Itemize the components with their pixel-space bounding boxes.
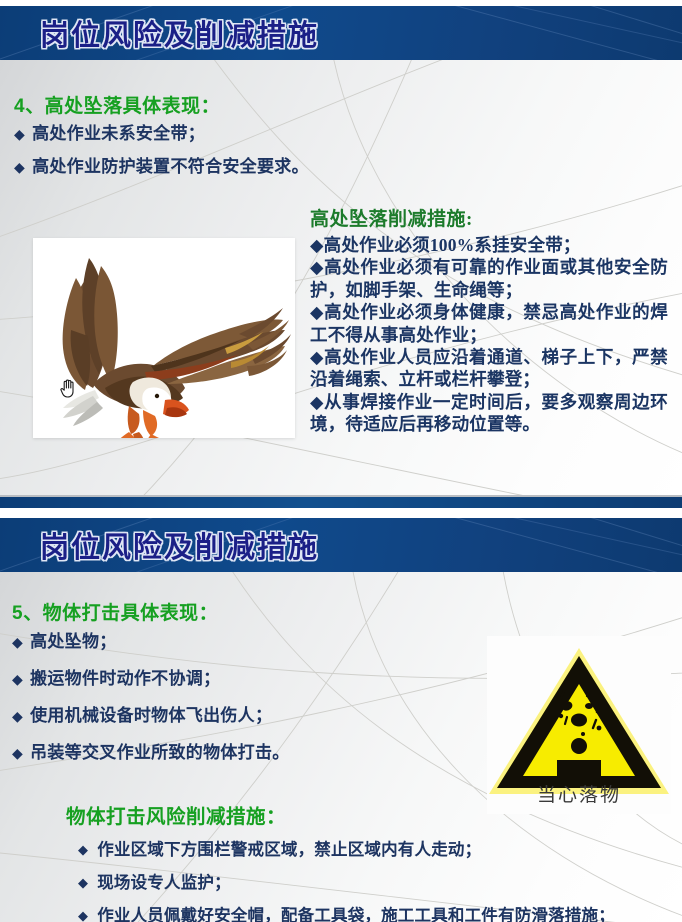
list-item: ◆ 高处坠物；	[12, 627, 290, 652]
slide-1[interactable]: 岗位风险及削减措施 4、高处坠落具体表现： ◆ 高处作业未系安全带；	[0, 6, 682, 508]
slide-2-title: 岗位风险及削减措施	[40, 524, 319, 566]
diamond-bullet-icon: ◆	[78, 906, 88, 922]
list-item-label: 使用机械设备时物体飞出伤人；	[30, 701, 272, 726]
slide-1-footer-bar	[0, 495, 682, 508]
diamond-bullet-icon: ◆	[78, 840, 88, 860]
slide-2-section-heading: 5、物体打击具体表现：	[12, 598, 218, 625]
list-item-label: 吊装等交叉作业所致的物体打击。	[30, 738, 290, 763]
diamond-bullet-icon: ◆	[12, 709, 23, 723]
presentation-page: 岗位风险及削减措施 4、高处坠落具体表现： ◆ 高处作业未系安全带；	[0, 0, 682, 922]
measures-item: ◆高处作业必须身体健康，禁忌高处作业的焊工不得从事高处作业；	[310, 301, 668, 346]
list-item-label: 高处作业未系安全带；	[32, 119, 205, 144]
slide-1-body: 4、高处坠落具体表现： ◆ 高处作业未系安全带； ◆ 高处作业防护装置不符合安全…	[0, 60, 682, 508]
slide-1-banner: 岗位风险及削减措施	[0, 6, 682, 60]
list-item-label: 作业区域下方围栏警戒区域，禁止区域内有人走动；	[97, 840, 680, 862]
list-item: ◆ 搬运物件时动作不协调；	[12, 664, 290, 689]
list-item: ◆ 作业区域下方围栏警戒区域，禁止区域内有人走动；	[66, 840, 680, 862]
slide-2-bullet-list: ◆ 高处坠物； ◆ 搬运物件时动作不协调； ◆ 使用机械设备时物体飞出伤人； ◆…	[12, 627, 290, 763]
list-item-label: 作业人员佩戴好安全帽，配备工具袋，施工工具和工件有防滑落措施；	[97, 906, 680, 922]
measures-item: ◆高处作业人员应沿着通道、梯子上下，严禁沿着绳索、立杆或栏杆攀登；	[310, 346, 668, 391]
measures-item: ◆高处作业必须有可靠的作业面或其他安全防护，如脚手架、生命绳等；	[310, 256, 668, 301]
eagle-illustration	[33, 238, 295, 438]
diamond-bullet-icon: ◆	[12, 672, 23, 686]
list-item: ◆ 作业人员佩戴好安全帽，配备工具袋，施工工具和工件有防滑落措施；	[66, 906, 680, 922]
measures-heading: 物体打击风险削减措施：	[66, 800, 680, 829]
diamond-bullet-icon: ◆	[14, 160, 25, 174]
list-item: ◆ 吊装等交叉作业所致的物体打击。	[12, 738, 290, 763]
diamond-bullet-icon: ◆	[12, 635, 23, 649]
list-item-label: 现场设专人监护；	[97, 873, 680, 895]
list-item-label: 搬运物件时动作不协调；	[30, 664, 220, 689]
diamond-bullet-icon: ◆	[12, 746, 23, 760]
slide-1-section-heading: 4、高处坠落具体表现：	[14, 91, 220, 118]
list-item-label: 高处坠物；	[30, 627, 117, 652]
list-item: ◆ 高处作业未系安全带；	[14, 119, 309, 144]
slide-1-title: 岗位风险及削减措施	[40, 12, 319, 54]
measures-item: ◆从事焊接作业一定时间后，要多观察周边环境，待适应后再移动位置等。	[310, 391, 668, 436]
measures-list: ◆ 作业区域下方围栏警戒区域，禁止区域内有人走动； ◆ 现场设专人监护； ◆ 作…	[66, 840, 680, 922]
diamond-bullet-icon: ◆	[78, 873, 88, 893]
slide-2-body: 5、物体打击具体表现： ◆ 高处坠物； ◆ 搬运物件时动作不协调； ◆ 使用机械…	[0, 572, 682, 922]
slide-2-banner: 岗位风险及削减措施	[0, 518, 682, 572]
list-item: ◆ 使用机械设备时物体飞出伤人；	[12, 701, 290, 726]
list-item: ◆ 高处作业防护装置不符合安全要求。	[14, 152, 309, 177]
list-item: ◆ 现场设专人监护；	[66, 873, 680, 895]
measures-heading: 高处坠落削减措施:	[310, 204, 668, 231]
slide-2[interactable]: 岗位风险及削减措施 5、物体打击具体表现： ◆ 高处坠物；	[0, 518, 682, 922]
slide-1-measures: 高处坠落削减措施: ◆高处作业必须100%系挂安全带； ◆高处作业必须有可靠的作…	[310, 204, 668, 436]
measures-item: ◆高处作业必须100%系挂安全带；	[310, 234, 668, 256]
diamond-bullet-icon: ◆	[14, 127, 25, 141]
list-item-label: 高处作业防护装置不符合安全要求。	[32, 152, 309, 177]
eagle-photo[interactable]	[33, 238, 295, 438]
falling-objects-warning-sign[interactable]: 当心落物	[487, 636, 671, 814]
slide-1-bullet-list: ◆ 高处作业未系安全带； ◆ 高处作业防护装置不符合安全要求。	[14, 119, 309, 177]
slide-2-measures: 物体打击风险削减措施： ◆ 作业区域下方围栏警戒区域，禁止区域内有人走动； ◆ …	[66, 800, 680, 922]
